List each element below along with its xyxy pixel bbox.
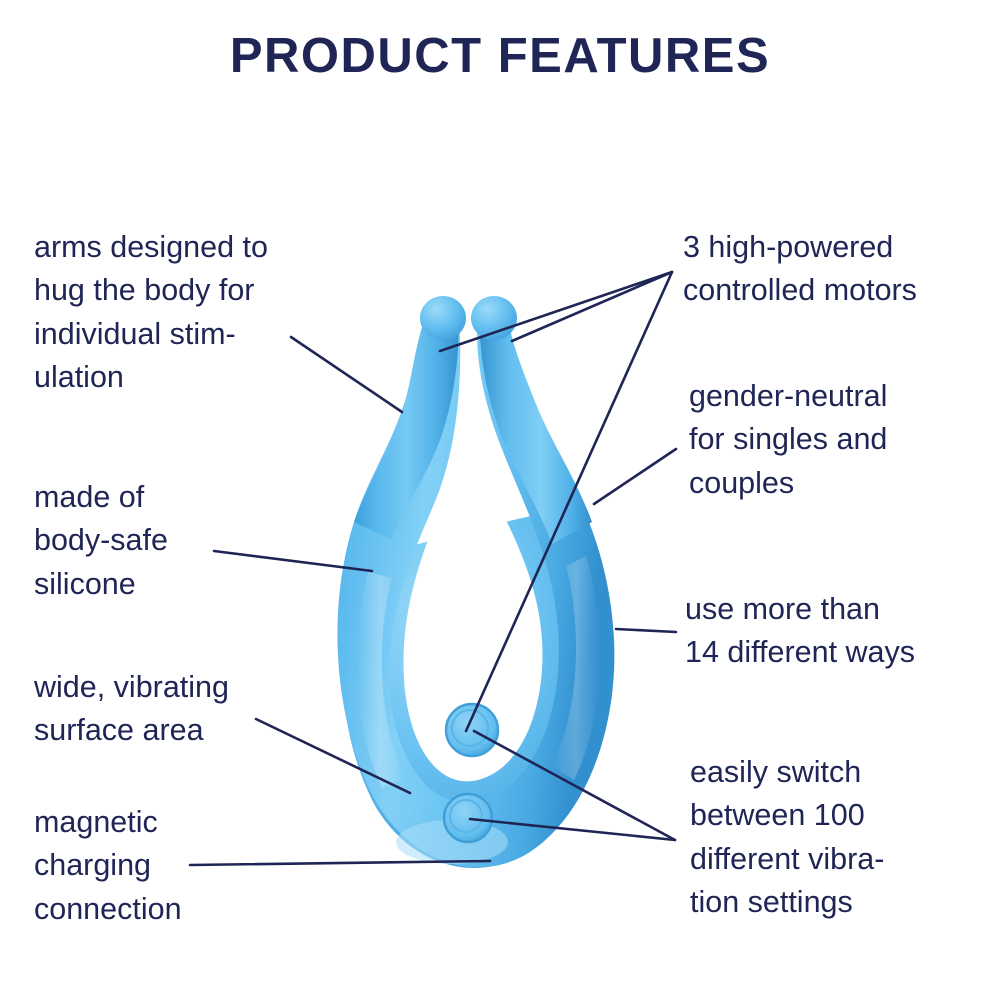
feature-label-gender-neutral: gender-neutral for singles and couples [689,375,999,505]
left-arm-tip [420,296,466,340]
right-arm-tip [471,296,517,340]
product-features-infographic: PRODUCT FEATURES [0,0,1000,1000]
feature-label-wide-vibrating-surface: wide, vibrating surface area [34,666,324,753]
feature-label-magnetic-charging: magnetic charging connection [34,801,324,931]
feature-label-three-motors: 3 high-powered controlled motors [683,226,1000,313]
feature-label-hundred-vibration-settings: easily switch between 100 different vibr… [690,751,1000,924]
feature-label-body-safe-silicone: made of body-safe silicone [34,476,324,606]
lower-control-button[interactable] [444,794,492,842]
upper-control-button[interactable] [446,704,498,756]
feature-label-fourteen-ways: use more than 14 different ways [685,588,1000,675]
feature-label-arms-hug-body: arms designed to hug the body for indivi… [34,226,344,399]
